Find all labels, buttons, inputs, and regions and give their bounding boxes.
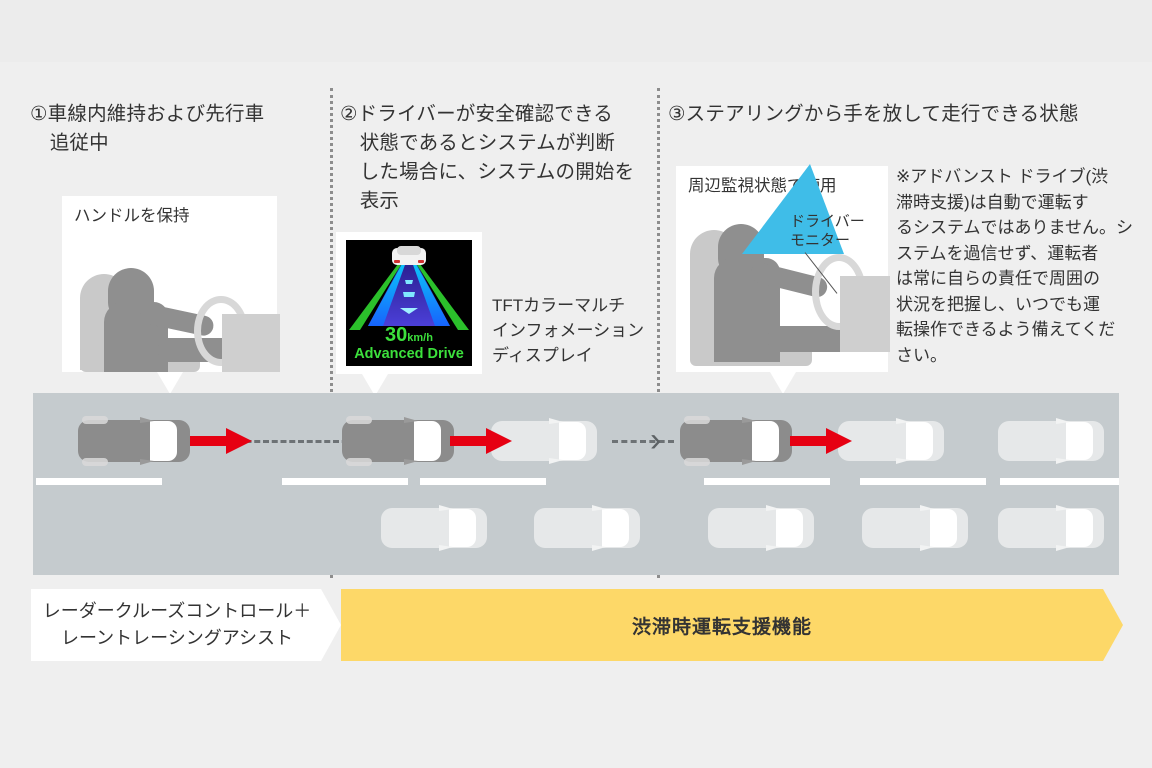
tft-speed-unit: km/h (407, 332, 433, 344)
traffic-jam-assist-banner: 渋滞時運転支援機能 (341, 589, 1123, 661)
traffic-jam-assist-banner-label: 渋滞時運転支援機能 (632, 612, 812, 639)
column-2-display-caption: TFTカラーマルチ インフォメーション ディスプレイ (492, 293, 644, 368)
column-1-heading: ①車線内維持および先行車 追従中 (30, 100, 330, 158)
column-2-card: 30km/h Advanced Drive (336, 232, 482, 374)
dashboard-1 (222, 314, 280, 372)
tft-mode-label: Advanced Drive (346, 346, 472, 362)
follow-line-2 (612, 440, 674, 443)
red-arrow-2 (450, 427, 512, 455)
infographic-root: ①車線内維持および先行車 追従中 ハンドルを保持 ②ドライバーが安全確認できる … (0, 0, 1152, 768)
column-1-card: ハンドルを保持 (62, 196, 277, 372)
ego-car-3 (678, 414, 794, 468)
radar-cruise-banner: レーダークルーズコントロール＋ レーントレーシングアシスト (31, 589, 341, 661)
top-band (0, 0, 1152, 62)
red-arrow-3 (790, 427, 852, 455)
column-3-card-tail (770, 372, 796, 394)
lane-marking (282, 478, 408, 485)
lane-marking (36, 478, 162, 485)
section-chevron: › (650, 423, 661, 457)
red-arrow-1 (190, 427, 252, 455)
column-3-card: 周辺監視状態で使用 (676, 166, 888, 372)
driver-monitor-label: ドライバー モニター (790, 212, 865, 250)
traffic-car-lower-4 (860, 503, 970, 553)
traffic-car-lower-2 (532, 503, 642, 553)
traffic-car-lower-3 (706, 503, 816, 553)
ego-car-2 (340, 414, 456, 468)
lane-marking (1000, 478, 1119, 485)
lane-marking (860, 478, 986, 485)
traffic-car-upper-2 (836, 416, 946, 466)
radar-cruise-banner-label: レーダークルーズコントロール＋ レーントレーシングアシスト (43, 598, 312, 652)
lane-marking (704, 478, 830, 485)
dashboard-3 (840, 276, 890, 352)
ego-car-1 (76, 414, 192, 468)
tft-speed-row: 30km/h (346, 324, 472, 347)
traffic-car-lower-5 (996, 503, 1106, 553)
tft-speed-value: 30 (385, 324, 407, 346)
column-2-heading: ②ドライバーが安全確認できる 状態であるとシステムが判断 した場合に、システムの… (340, 100, 650, 216)
disclaimer-note: ※アドバンスト ドライブ(渋 滞時支援)は自動で運転す るシステムではありません… (896, 164, 1136, 368)
column-1-card-tail (157, 372, 183, 394)
lane-marking (420, 478, 546, 485)
traffic-car-lower-1 (379, 503, 489, 553)
traffic-car-upper-3 (996, 416, 1106, 466)
column-1-card-label: ハンドルを保持 (74, 205, 190, 227)
tft-display: 30km/h Advanced Drive (346, 240, 472, 366)
column-3-heading: ③ステアリングから手を放して走行できる状態 (668, 100, 1118, 129)
